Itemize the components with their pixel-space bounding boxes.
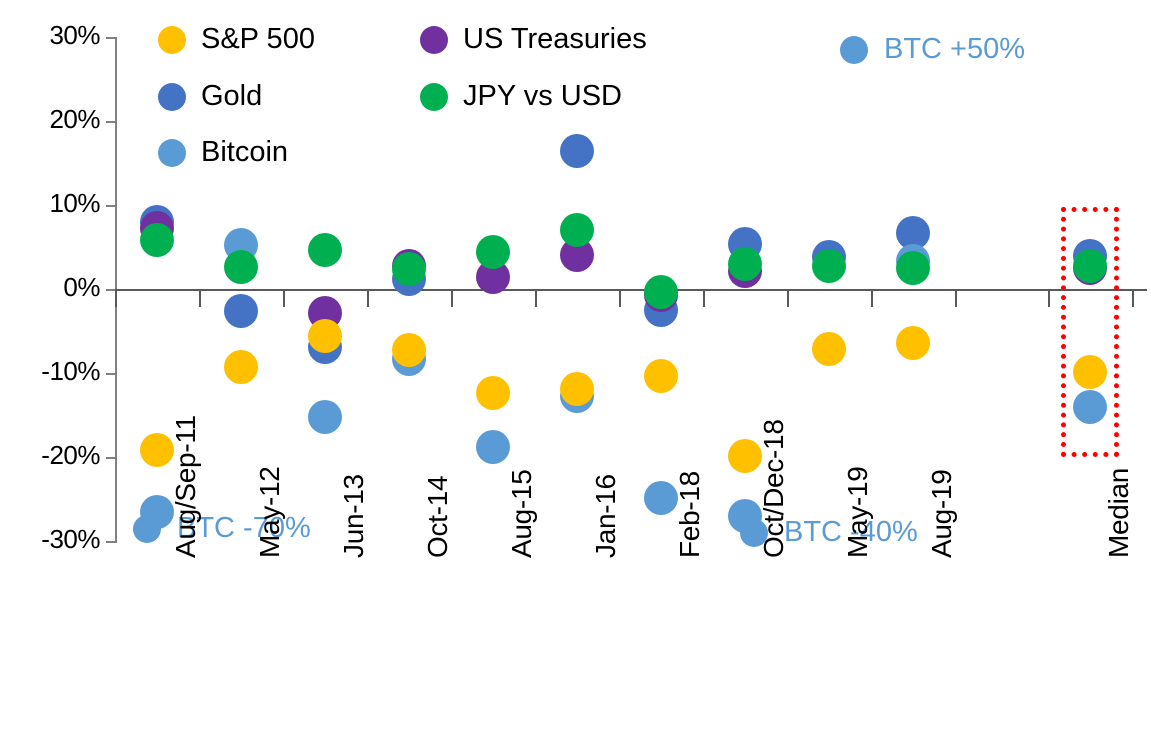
y-axis-tick-label: -10% xyxy=(0,356,100,387)
data-point-jpy-vs-usd xyxy=(140,223,174,257)
x-axis-tick-mark xyxy=(199,290,201,307)
y-axis-tick-mark xyxy=(106,541,117,543)
data-point-bitcoin xyxy=(476,430,510,464)
annotation-label: BTC +50% xyxy=(884,33,1025,66)
data-point-gold xyxy=(560,134,594,168)
x-axis-category-label: Jun-13 xyxy=(338,474,370,558)
y-axis-tick-mark xyxy=(106,373,117,375)
data-point-s-p-500 xyxy=(224,350,258,384)
legend-label: Gold xyxy=(201,80,262,113)
data-point-jpy-vs-usd xyxy=(812,249,846,283)
annotation-dot-icon xyxy=(840,36,868,64)
data-point-s-p-500 xyxy=(896,326,930,360)
data-point-jpy-vs-usd xyxy=(224,250,258,284)
x-axis-category-label: Aug-19 xyxy=(926,470,958,559)
data-point-s-p-500 xyxy=(308,319,342,353)
data-point-s-p-500 xyxy=(140,433,174,467)
legend-label: Bitcoin xyxy=(201,136,288,169)
x-axis-tick-mark xyxy=(955,290,957,307)
data-point-s-p-500 xyxy=(728,439,762,473)
y-axis-tick-label: 0% xyxy=(0,272,100,303)
legend-swatch-icon xyxy=(420,83,448,111)
data-point-bitcoin xyxy=(308,400,342,434)
data-point-jpy-vs-usd xyxy=(896,251,930,285)
y-axis-tick-label: -20% xyxy=(0,440,100,471)
legend-swatch-icon xyxy=(420,26,448,54)
x-axis-tick-mark xyxy=(787,290,789,307)
x-axis-category-label: May-12 xyxy=(254,466,286,558)
y-axis-tick-label: 10% xyxy=(0,188,100,219)
data-point-jpy-vs-usd xyxy=(644,275,678,309)
y-axis-tick-mark xyxy=(106,121,117,123)
data-point-jpy-vs-usd xyxy=(728,247,762,281)
data-point-jpy-vs-usd xyxy=(476,235,510,269)
x-axis-tick-mark xyxy=(1048,290,1050,307)
annotation-btc-plus-50: BTC +50% xyxy=(840,33,1025,66)
scatter-chart: 30%20%10%0%-10%-20%-30%S&P 500GoldBitcoi… xyxy=(0,0,1151,739)
x-axis-category-label: Feb-18 xyxy=(674,471,706,558)
y-axis-tick-mark xyxy=(106,37,117,39)
legend-item-bitcoin[interactable]: Bitcoin xyxy=(158,136,288,169)
x-axis-tick-mark xyxy=(535,290,537,307)
y-axis-tick-mark xyxy=(106,457,117,459)
x-axis-category-label: Oct-14 xyxy=(422,476,454,558)
x-axis-category-label: Aug-15 xyxy=(506,470,538,559)
x-axis-category-label: Aug/Sep-11 xyxy=(170,415,202,558)
x-axis-tick-mark xyxy=(367,290,369,307)
x-axis-tick-mark xyxy=(283,290,285,307)
legend-item-s-p-500[interactable]: S&P 500 xyxy=(158,23,315,56)
data-point-bitcoin xyxy=(644,481,678,515)
legend-label: JPY vs USD xyxy=(463,80,622,113)
x-axis-tick-mark xyxy=(451,290,453,307)
legend-swatch-icon xyxy=(158,26,186,54)
y-axis-tick-label: 30% xyxy=(0,20,100,51)
y-axis-tick-mark xyxy=(106,205,117,207)
x-axis-tick-mark xyxy=(703,290,705,307)
data-point-s-p-500 xyxy=(812,332,846,366)
legend-swatch-icon xyxy=(158,83,186,111)
x-axis-tick-mark xyxy=(1132,290,1134,307)
legend-item-gold[interactable]: Gold xyxy=(158,80,262,113)
x-axis-tick-mark xyxy=(115,290,117,307)
legend-swatch-icon xyxy=(158,139,186,167)
data-point-jpy-vs-usd xyxy=(392,252,426,286)
annotation-dot-icon xyxy=(133,515,161,543)
median-highlight-box xyxy=(1061,207,1119,457)
data-point-s-p-500 xyxy=(476,376,510,410)
x-axis-tick-mark xyxy=(871,290,873,307)
data-point-jpy-vs-usd xyxy=(308,233,342,267)
data-point-gold xyxy=(224,294,258,328)
x-axis-category-label: Median xyxy=(1103,468,1135,558)
data-point-s-p-500 xyxy=(644,359,678,393)
x-axis-category-label: May-19 xyxy=(842,466,874,558)
zero-baseline xyxy=(115,289,1147,291)
data-point-s-p-500 xyxy=(560,372,594,406)
x-axis-category-label: Oct/Dec-18 xyxy=(758,419,790,558)
y-axis-tick-label: -30% xyxy=(0,524,100,555)
legend-label: US Treasuries xyxy=(463,23,647,56)
x-axis-tick-mark xyxy=(619,290,621,307)
legend-label: S&P 500 xyxy=(201,23,315,56)
x-axis-category-label: Jan-16 xyxy=(590,474,622,558)
legend-item-us-treasuries[interactable]: US Treasuries xyxy=(420,23,647,56)
y-axis-tick-label: 20% xyxy=(0,104,100,135)
legend-item-jpy-vs-usd[interactable]: JPY vs USD xyxy=(420,80,622,113)
